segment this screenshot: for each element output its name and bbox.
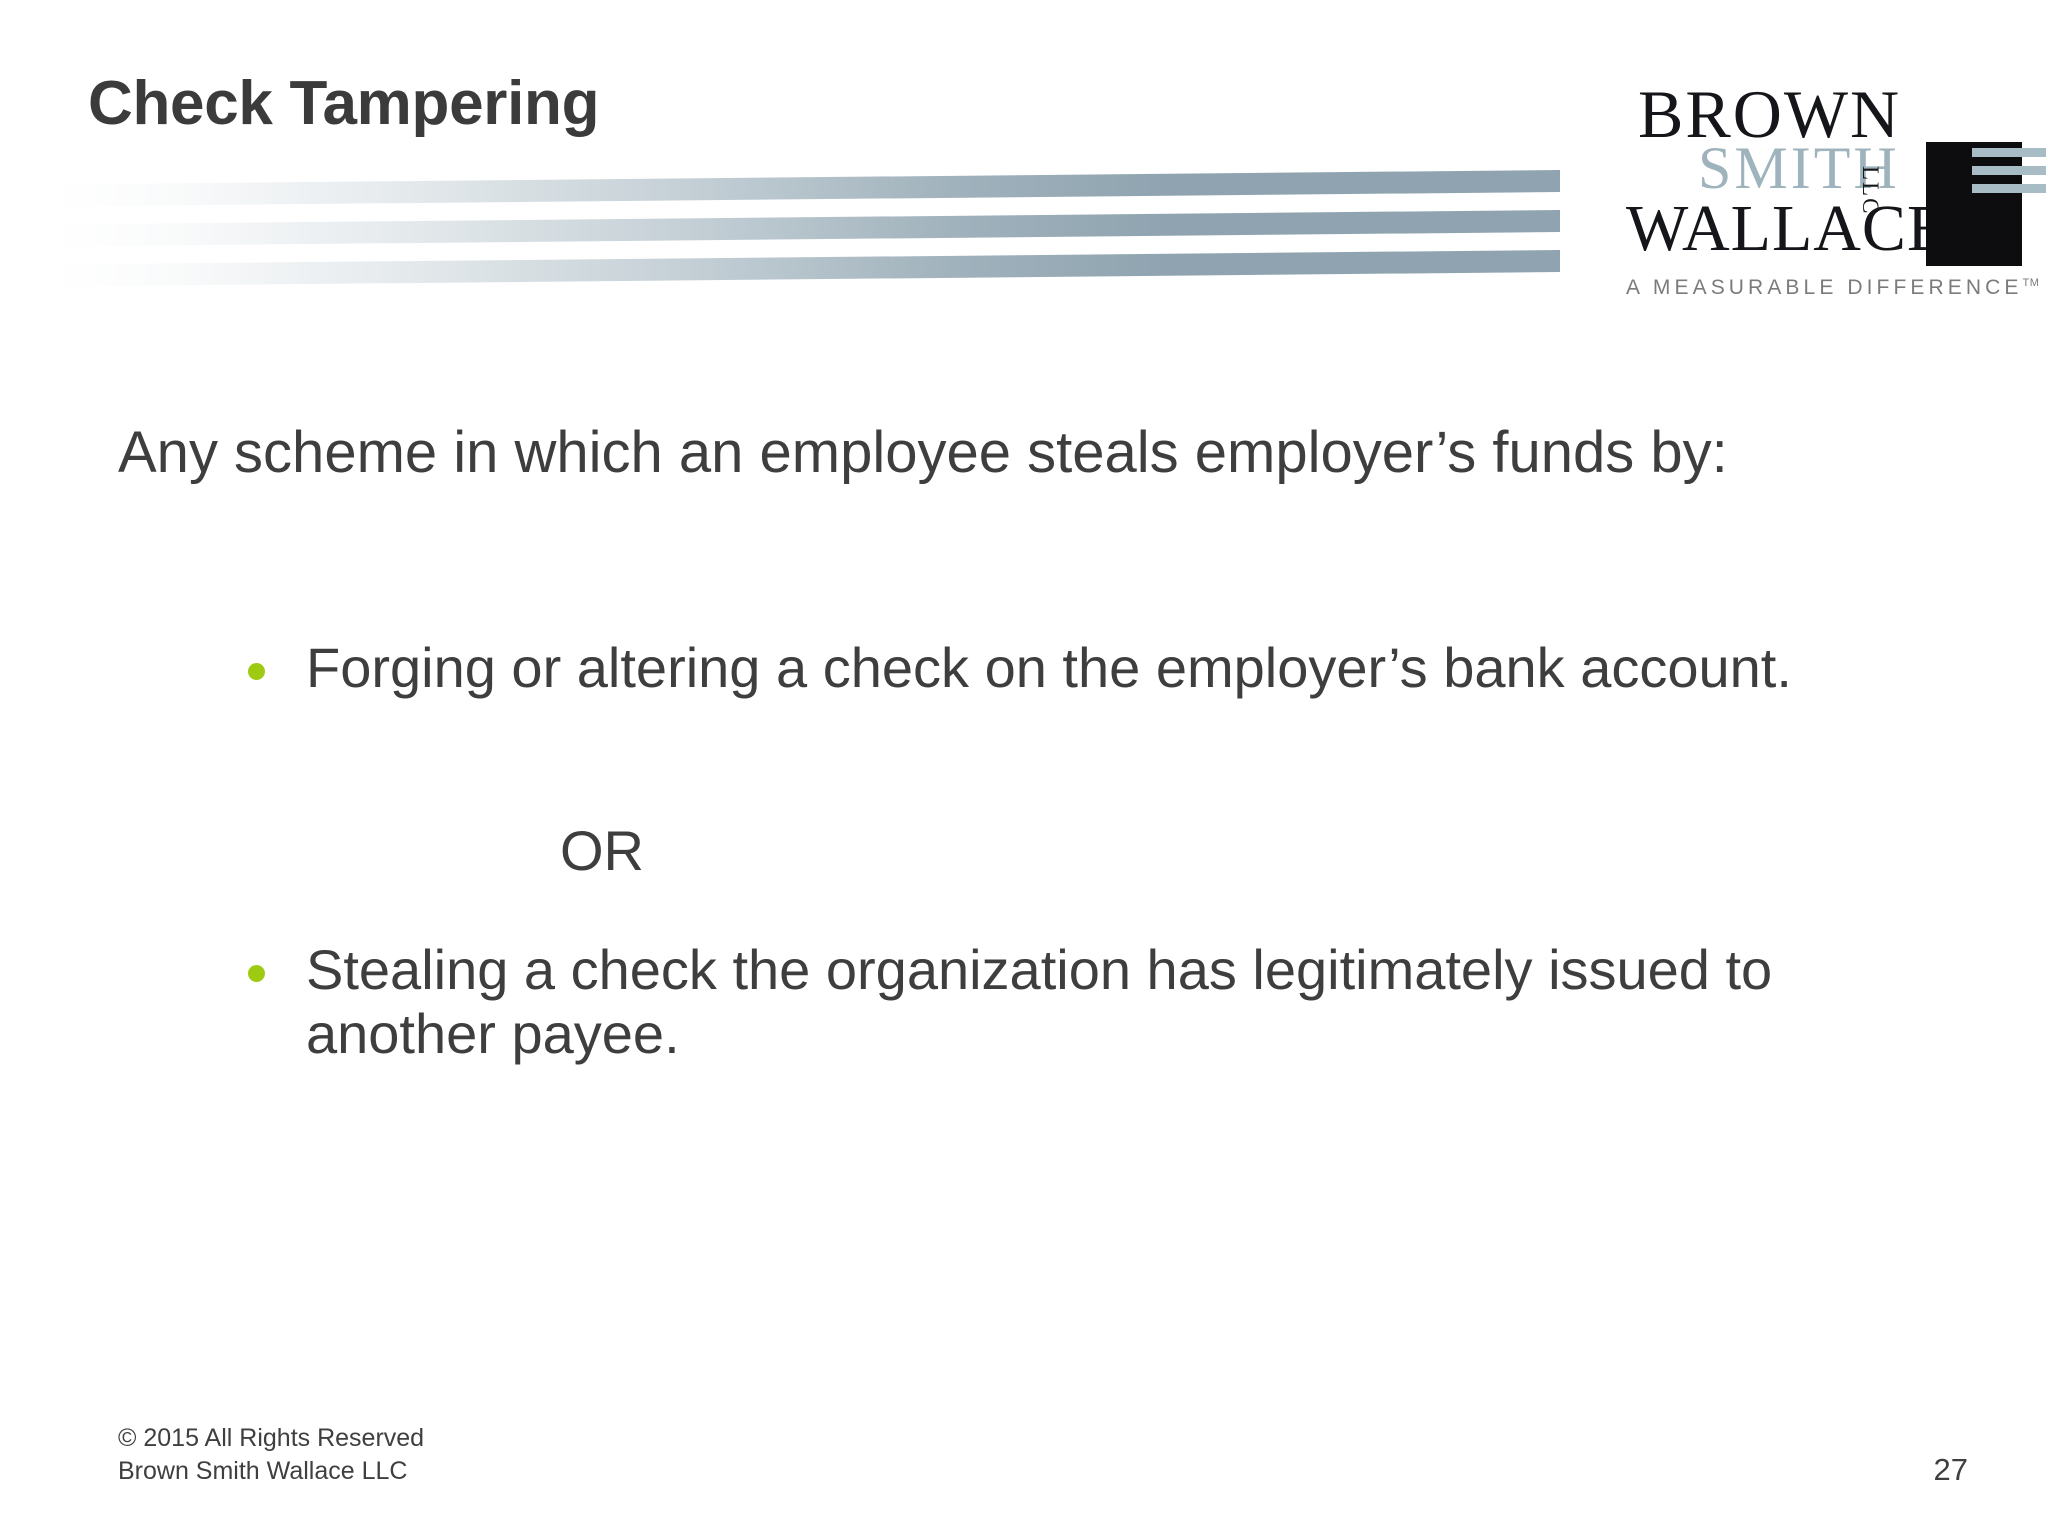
logo-block-line-2 [1972, 166, 2046, 175]
bullet-list-first: Forging or altering a check on the emplo… [240, 636, 1940, 700]
list-item: Forging or altering a check on the emplo… [240, 636, 1940, 700]
company-logo: BROWN SMITH LLC WALLACE A MEASURABLE DIF… [1626, 58, 2026, 288]
trademark-icon: TM [2023, 277, 2040, 289]
decorative-bar-2 [55, 210, 1560, 246]
bullet-dot-icon [248, 965, 265, 982]
bullet-dot-icon [248, 663, 265, 680]
connector-or: OR [560, 818, 644, 883]
decorative-bar-3 [55, 250, 1560, 286]
logo-word-wallace: WALLACE [1626, 196, 1948, 262]
page-title: Check Tampering [88, 68, 599, 139]
logo-block-line-3 [1972, 184, 2046, 193]
list-item: Stealing a check the organization has le… [240, 938, 1940, 1066]
decorative-bars [55, 168, 1560, 286]
logo-block-mark [1926, 142, 2022, 266]
logo-tagline-text: A MEASURABLE DIFFERENCE [1626, 276, 2023, 299]
lead-paragraph: Any scheme in which an employee steals e… [118, 418, 1908, 488]
list-item-label: Forging or altering a check on the emplo… [306, 636, 1940, 700]
copyright-line-1: © 2015 All Rights Reserved [118, 1422, 424, 1455]
logo-block-line-1 [1972, 148, 2046, 157]
slide-canvas: Check Tampering BROWN SMITH LLC WALLACE … [0, 0, 2048, 1536]
list-item-label: Stealing a check the organization has le… [306, 938, 1940, 1066]
decorative-bar-1 [55, 170, 1560, 206]
copyright-notice: © 2015 All Rights Reserved Brown Smith W… [118, 1422, 424, 1488]
copyright-line-2: Brown Smith Wallace LLC [118, 1455, 424, 1488]
logo-tagline: A MEASURABLE DIFFERENCETM [1626, 276, 2039, 300]
page-number: 27 [1934, 1452, 1968, 1488]
bullet-list-second: Stealing a check the organization has le… [240, 938, 1940, 1066]
